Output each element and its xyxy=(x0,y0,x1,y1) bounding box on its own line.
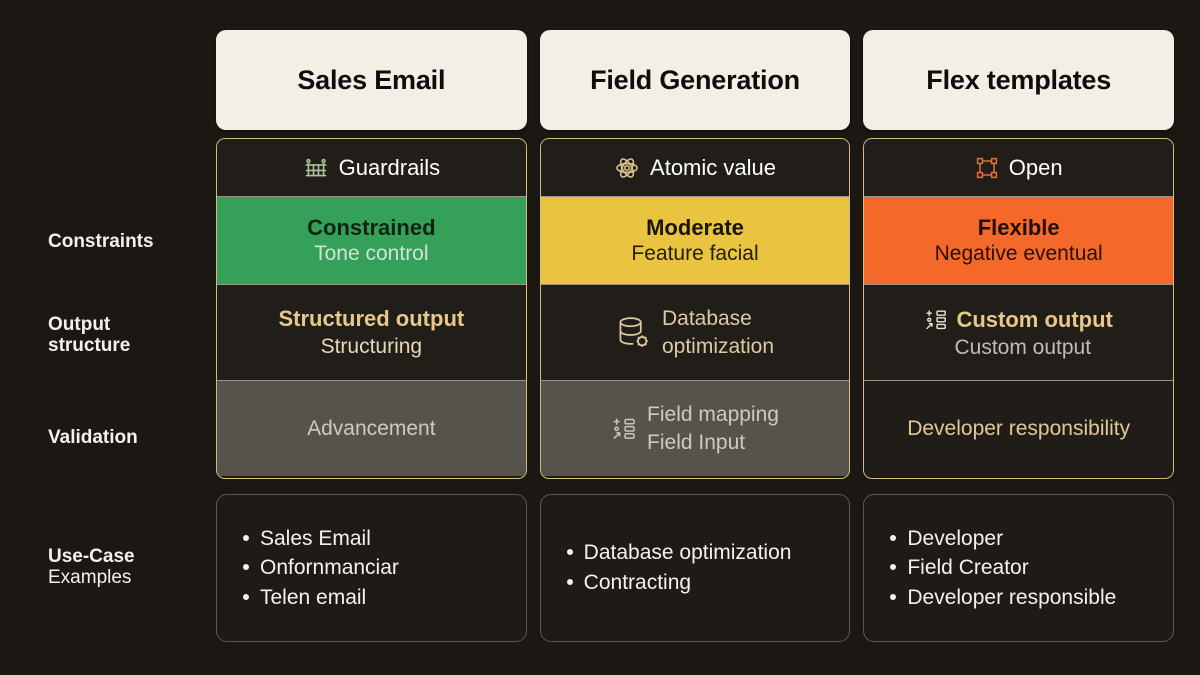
use-case-box-field-generation: Database optimization Contracting xyxy=(540,494,851,642)
output-main-text: Database xyxy=(662,305,774,332)
chip-main-text: Constrained xyxy=(307,214,435,242)
cell-validation-flex-templates: Developer responsibility xyxy=(864,381,1173,476)
column-header-card-flex-templates[interactable]: Flex templates xyxy=(863,30,1174,130)
output-sub-text: Custom output xyxy=(954,334,1112,361)
bullet-icon xyxy=(890,535,896,541)
list-item: Contracting xyxy=(567,568,824,598)
row-label-main: Use-Case xyxy=(48,546,213,567)
list-item-label: Developer xyxy=(907,524,1003,554)
cell-icon-label: Guardrails xyxy=(339,155,440,181)
row-label-sub: Examples xyxy=(48,567,213,588)
matrix-column-field-generation: Atomic value Moderate Feature facial xyxy=(540,138,851,479)
list-item-label: Database optimization xyxy=(584,538,792,568)
cell-constraints-flex-templates: Flexible Negative eventual xyxy=(864,197,1173,285)
validation-text-line: Field mapping xyxy=(647,401,779,428)
list-item: Sales Email xyxy=(243,524,500,554)
list-item-label: Developer responsible xyxy=(907,583,1116,613)
row-label-output-structure: Output structure xyxy=(48,314,213,357)
bullet-icon xyxy=(243,564,249,570)
fence-gate-icon xyxy=(303,155,329,181)
list-item-label: Sales Email xyxy=(260,524,371,554)
output-sub-text: optimization xyxy=(662,333,774,360)
cell-icon-atomic-value: Atomic value xyxy=(541,139,850,197)
output-sub-text: Structuring xyxy=(321,333,423,360)
use-case-boxes: Sales Email Onfornmanciar Telen email Da… xyxy=(216,494,1174,642)
frame-handles-icon xyxy=(975,156,999,180)
cell-icon-open: Open xyxy=(864,139,1173,197)
cell-icon-label: Atomic value xyxy=(650,155,776,181)
row-label-validation: Validation xyxy=(48,427,213,448)
list-item-label: Telen email xyxy=(260,583,366,613)
cell-output-structure-sales-email: Structured output Structuring xyxy=(217,285,526,381)
column-header-label: Flex templates xyxy=(926,65,1111,96)
cell-output-structure-field-generation: Database optimization xyxy=(541,285,850,381)
use-case-box-sales-email: Sales Email Onfornmanciar Telen email xyxy=(216,494,527,642)
validation-text-line: Field Input xyxy=(647,429,779,456)
comparison-matrix: Guardrails Constrained Tone control Stru… xyxy=(216,138,1174,479)
bullet-icon xyxy=(567,579,573,585)
matrix-column-sales-email: Guardrails Constrained Tone control Stru… xyxy=(216,138,527,479)
chip-main-text: Moderate xyxy=(646,214,744,242)
bullet-icon xyxy=(890,594,896,600)
matrix-column-flex-templates: Open Flexible Negative eventual xyxy=(863,138,1174,479)
list-item: Telen email xyxy=(243,583,500,613)
field-mapping-icon xyxy=(924,308,948,332)
list-item: Developer xyxy=(890,524,1147,554)
validation-text-line: Advancement xyxy=(307,415,435,442)
output-main-text: Structured output xyxy=(278,305,464,334)
cell-validation-field-generation: Field mapping Field Input xyxy=(541,381,850,476)
column-header-card-field-generation[interactable]: Field Generation xyxy=(540,30,851,130)
database-gear-icon xyxy=(616,314,652,352)
bullet-icon xyxy=(243,535,249,541)
output-main-text: Custom output xyxy=(956,306,1112,335)
chip-main-text: Flexible xyxy=(978,214,1060,242)
cell-constraints-field-generation: Moderate Feature facial xyxy=(541,197,850,285)
row-label-constraints: Constraints xyxy=(48,231,213,252)
cell-output-structure-flex-templates: Custom output Custom output xyxy=(864,285,1173,381)
row-label-use-case: Use-Case Examples xyxy=(48,546,213,589)
slide-root: Sales Email Field Generation Flex templa… xyxy=(0,0,1200,675)
chip-sub-text: Feature facial xyxy=(631,241,758,267)
atom-icon xyxy=(614,155,640,181)
list-item: Field Creator xyxy=(890,553,1147,583)
column-header-card-sales-email[interactable]: Sales Email xyxy=(216,30,527,130)
field-mapping-icon xyxy=(611,416,637,442)
bullet-icon xyxy=(890,564,896,570)
column-header-label: Field Generation xyxy=(590,65,800,96)
cell-icon-guardrails: Guardrails xyxy=(217,139,526,197)
list-item-label: Contracting xyxy=(584,568,691,598)
list-item: Onfornmanciar xyxy=(243,553,500,583)
list-item-label: Onfornmanciar xyxy=(260,553,399,583)
row-label-main: Output xyxy=(48,314,213,335)
cell-validation-sales-email: Advancement xyxy=(217,381,526,476)
list-item-label: Field Creator xyxy=(907,553,1028,583)
cell-constraints-sales-email: Constrained Tone control xyxy=(217,197,526,285)
chip-sub-text: Tone control xyxy=(314,241,428,267)
bullet-icon xyxy=(243,594,249,600)
list-item: Database optimization xyxy=(567,538,824,568)
chip-sub-text: Negative eventual xyxy=(935,241,1103,267)
row-label-main: Validation xyxy=(48,427,213,448)
list-item: Developer responsible xyxy=(890,583,1147,613)
validation-text-line: Developer responsibility xyxy=(907,415,1130,442)
use-case-box-flex-templates: Developer Field Creator Developer respon… xyxy=(863,494,1174,642)
row-label-main: Constraints xyxy=(48,231,213,252)
row-label-sub: structure xyxy=(48,335,213,356)
bullet-icon xyxy=(567,549,573,555)
column-header-label: Sales Email xyxy=(297,65,445,96)
column-headers: Sales Email Field Generation Flex templa… xyxy=(216,30,1174,130)
cell-icon-label: Open xyxy=(1009,155,1063,181)
